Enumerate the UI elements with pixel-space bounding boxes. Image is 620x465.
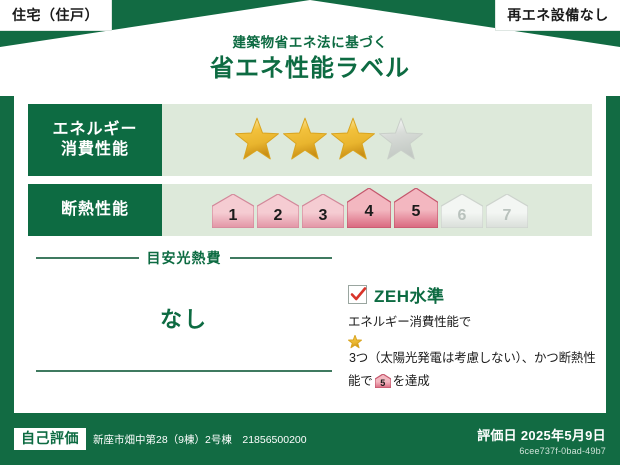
star-rating xyxy=(234,117,424,163)
insulation-step-label: 3 xyxy=(302,208,344,224)
building-type-tag: 住宅（住戸） xyxy=(0,0,112,31)
evaluation-date: 評価日 2025年5月9日 xyxy=(477,425,606,444)
insulation-step-5: 5 xyxy=(394,188,438,233)
inline-step-label: 5 xyxy=(375,379,391,388)
energy-performance-row: エネルギー 消費性能 xyxy=(28,104,592,176)
utility-cost-heading: 目安光熱費 xyxy=(36,248,332,268)
zeh-title: ZEH水準 xyxy=(374,282,445,307)
zeh-desc-part4: を達成 xyxy=(393,374,430,388)
insulation-performance-row: 断熱性能 1234567 xyxy=(28,184,592,236)
property-address: 新座市畑中第28（9棟）2号棟 21856500200 xyxy=(93,432,307,447)
star-1 xyxy=(234,117,280,163)
energy-performance-label: 住宅（住戸） 再エネ設備なし 建築物省エネ法に基づく 省エネ性能ラベル エネルギ… xyxy=(0,0,620,465)
insulation-step-label: 2 xyxy=(257,208,299,224)
insulation-step-label: 7 xyxy=(486,208,528,224)
label-footer: 自己評価 新座市畑中第28（9棟）2号棟 21856500200 評価日 202… xyxy=(0,419,620,465)
zeh-heading: ZEH水準 xyxy=(348,282,596,307)
star-4 xyxy=(378,117,424,163)
zeh-desc-part2: 3つ（太陽光発電 xyxy=(349,351,442,365)
renewable-text: 再エネ設備なし xyxy=(507,5,609,25)
insulation-step-label: 5 xyxy=(394,204,438,220)
utility-cost-heading-text: 目安光熱費 xyxy=(147,248,222,268)
insulation-step-scale: 1234567 xyxy=(212,188,528,233)
label-title-block: 建築物省エネ法に基づく 省エネ性能ラベル xyxy=(0,36,620,84)
rule-right xyxy=(230,257,333,259)
energy-label-line2: 消費性能 xyxy=(61,140,129,160)
utility-cost-block: 目安光熱費 なし xyxy=(36,248,332,372)
self-evaluation-badge: 自己評価 xyxy=(14,428,86,450)
insulation-step-1: 1 xyxy=(212,194,254,233)
energy-performance-label: エネルギー 消費性能 xyxy=(28,104,162,176)
label-body-panel: エネルギー 消費性能 断熱性能 1234567 目安光熱費 なし xyxy=(14,96,606,413)
insulation-step-label: 4 xyxy=(347,204,391,220)
checkbox-checked-icon xyxy=(348,285,367,304)
footer-left-group: 自己評価 新座市畑中第28（9棟）2号棟 21856500200 xyxy=(14,428,307,450)
star-2 xyxy=(282,117,328,163)
insulation-step-4: 4 xyxy=(347,188,391,233)
zeh-description: エネルギー消費性能で3つ（太陽光発電は考慮しない）、かつ断熱性能で5を達成 xyxy=(348,313,596,394)
label-subtitle: 建築物省エネ法に基づく xyxy=(0,36,620,51)
utility-cost-value: なし xyxy=(36,268,332,370)
utility-cost-divider xyxy=(36,370,332,372)
insulation-step-2: 2 xyxy=(257,194,299,233)
insulation-label-line1: 断熱性能 xyxy=(61,200,129,220)
zeh-desc-part1: エネルギー消費性能で xyxy=(348,315,471,329)
energy-label-line1: エネルギー xyxy=(52,120,137,140)
insulation-step-3: 3 xyxy=(302,194,344,233)
evaluation-date-value: 2025年5月9日 xyxy=(521,428,606,443)
energy-performance-value xyxy=(162,104,592,176)
building-type-text: 住宅（住戸） xyxy=(12,5,99,25)
insulation-step-6: 6 xyxy=(441,194,483,233)
insulation-performance-value: 1234567 xyxy=(162,184,592,236)
renewable-tag: 再エネ設備なし xyxy=(495,0,620,31)
star-3 xyxy=(330,117,376,163)
inline-star-icon xyxy=(348,335,596,349)
document-id: 6cee737f-0bad-49b7 xyxy=(477,446,606,456)
evaluation-date-label: 評価日 xyxy=(477,428,517,443)
footer-right-group: 評価日 2025年5月9日 6cee737f-0bad-49b7 xyxy=(477,425,606,456)
insulation-performance-label: 断熱性能 xyxy=(28,184,162,236)
label-title: 省エネ性能ラベル xyxy=(0,54,620,84)
insulation-step-label: 1 xyxy=(212,208,254,224)
insulation-step-label: 6 xyxy=(441,208,483,224)
insulation-step-7: 7 xyxy=(486,194,528,233)
inline-insulation-badge: 5 xyxy=(375,374,391,394)
rule-left xyxy=(36,257,139,259)
zeh-block: ZEH水準 エネルギー消費性能で3つ（太陽光発電は考慮しない）、かつ断熱性能で5… xyxy=(348,282,596,394)
